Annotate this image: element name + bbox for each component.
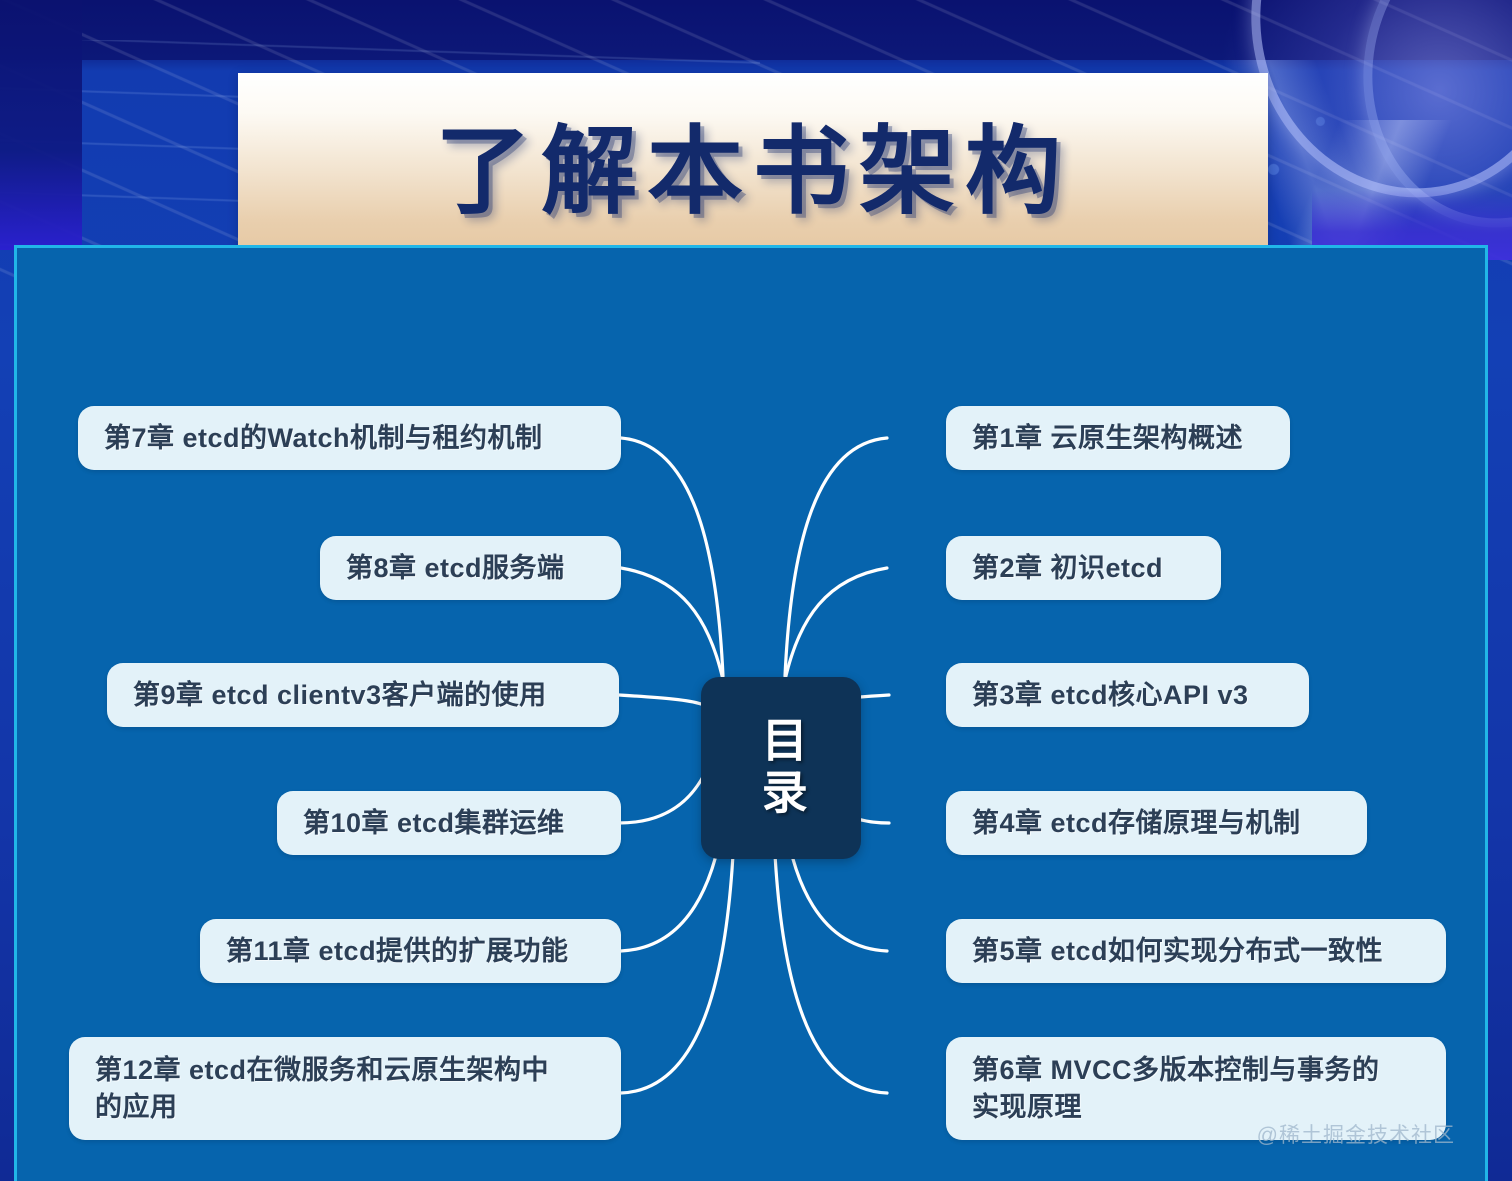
link-ch9 <box>619 695 701 704</box>
slide-canvas: 了解本书架构 <box>0 0 1512 1181</box>
node-ch9[interactable]: 第9章 etcd clientv3客户端的使用 <box>107 663 619 727</box>
mindmap-root-node[interactable]: 目录 <box>701 677 861 859</box>
left-accent-block <box>0 0 82 250</box>
mindmap-canvas: 第7章 etcd的Watch机制与租约机制 第8章 etcd服务端 第9章 et… <box>17 248 1485 1181</box>
node-ch5[interactable]: 第5章 etcd如何实现分布式一致性 <box>946 919 1446 983</box>
node-ch11[interactable]: 第11章 etcd提供的扩展功能 <box>200 919 621 983</box>
node-ch6-label: 第6章 MVCC多版本控制与事务的 实现原理 <box>972 1052 1380 1124</box>
link-ch7 <box>621 438 723 676</box>
node-ch12[interactable]: 第12章 etcd在微服务和云原生架构中 的应用 <box>69 1037 621 1140</box>
link-ch1 <box>785 438 887 676</box>
node-ch7-label: 第7章 etcd的Watch机制与租约机制 <box>104 420 543 456</box>
node-ch1[interactable]: 第1章 云原生架构概述 <box>946 406 1290 470</box>
link-ch8 <box>621 568 723 680</box>
mindmap-panel: 第7章 etcd的Watch机制与租约机制 第8章 etcd服务端 第9章 et… <box>14 245 1488 1181</box>
node-ch7[interactable]: 第7章 etcd的Watch机制与租约机制 <box>78 406 621 470</box>
node-ch10-label: 第10章 etcd集群运维 <box>303 805 565 841</box>
link-ch2 <box>785 568 887 680</box>
mindmap-root-label: 目录 <box>752 716 810 820</box>
node-ch4[interactable]: 第4章 etcd存储原理与机制 <box>946 791 1367 855</box>
node-ch2-label: 第2章 初识etcd <box>972 550 1163 586</box>
node-ch11-label: 第11章 etcd提供的扩展功能 <box>226 933 569 969</box>
node-ch4-label: 第4章 etcd存储原理与机制 <box>972 805 1301 841</box>
node-ch2[interactable]: 第2章 初识etcd <box>946 536 1221 600</box>
node-ch8[interactable]: 第8章 etcd服务端 <box>320 536 621 600</box>
page-title: 了解本书架构 <box>238 94 1268 233</box>
node-ch5-label: 第5章 etcd如何实现分布式一致性 <box>972 933 1383 969</box>
title-banner: 了解本书架构 <box>238 73 1268 253</box>
node-ch8-label: 第8章 etcd服务端 <box>346 550 565 586</box>
node-ch12-label: 第12章 etcd在微服务和云原生架构中 的应用 <box>95 1052 549 1124</box>
node-ch3-label: 第3章 etcd核心API v3 <box>972 677 1249 713</box>
node-ch10[interactable]: 第10章 etcd集群运维 <box>277 791 621 855</box>
node-ch1-label: 第1章 云原生架构概述 <box>972 420 1243 456</box>
node-ch3[interactable]: 第3章 etcd核心API v3 <box>946 663 1309 727</box>
node-ch9-label: 第9章 etcd clientv3客户端的使用 <box>133 677 547 713</box>
watermark: @稀土掘金技术社区 <box>1257 1119 1455 1149</box>
